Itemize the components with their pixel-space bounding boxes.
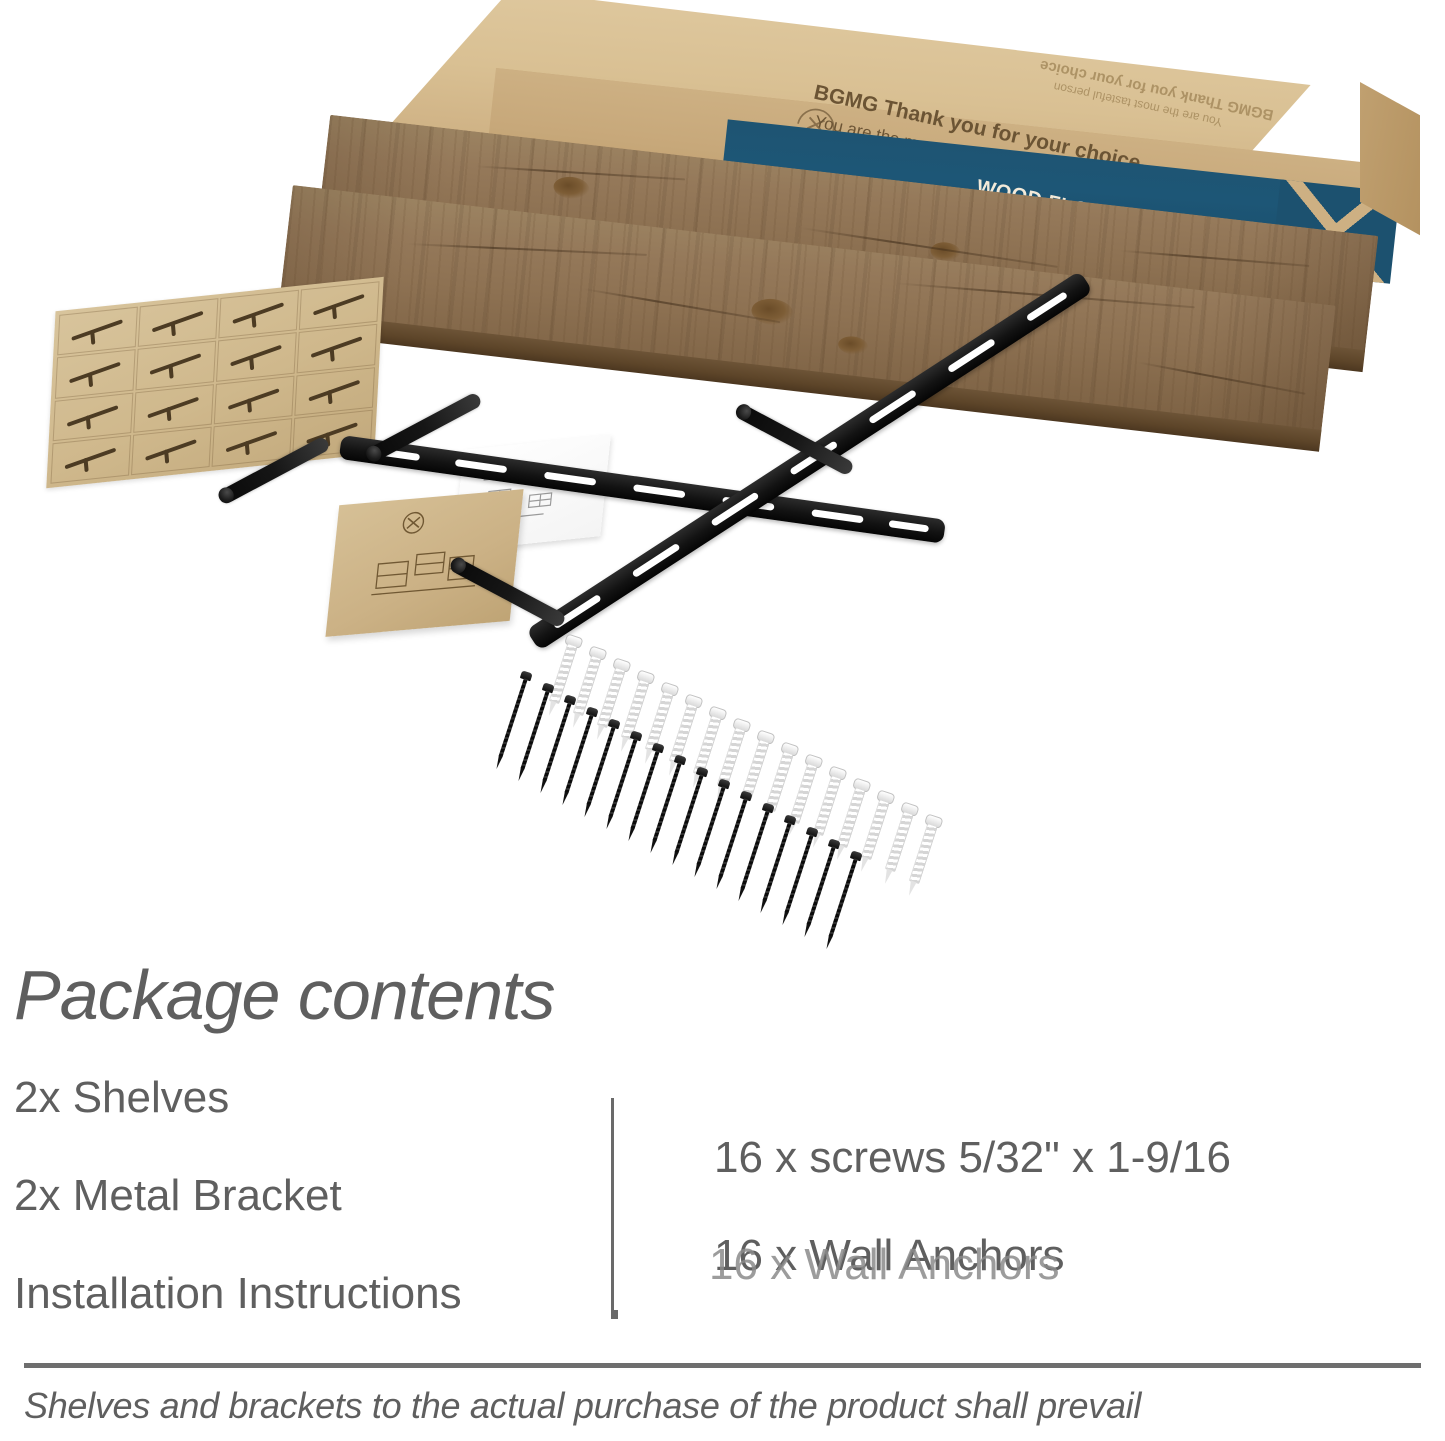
instruction-step [53, 392, 134, 441]
wood-knot [750, 297, 795, 328]
instruction-step [57, 307, 138, 356]
column-divider [611, 1098, 614, 1310]
bracket-slot [710, 492, 759, 527]
instruction-step [50, 435, 131, 484]
footer-tagline: Shelves and brackets to the actual purch… [24, 1385, 1424, 1427]
bracket-slot [632, 543, 681, 578]
contents-column-left: 2x Shelves 2x Metal Bracket Installation… [14, 1075, 594, 1370]
list-item: 16 x Wall Anchors 16 x Wall Anchors [714, 1233, 1414, 1279]
product-infographic: BGMGSHELF SERVING PEOPLE IS OUR BGMGSHEL… [0, 0, 1445, 1441]
instruction-step [131, 426, 212, 475]
wood-grain [583, 288, 781, 323]
list-item: 16 x screws 5/32" x 1-9/16 [714, 1135, 1414, 1181]
instruction-step [297, 324, 378, 373]
instruction-step [299, 281, 380, 330]
instruction-step [55, 349, 136, 398]
list-item: 2x Metal Bracket [14, 1173, 594, 1219]
product-photo: BGMGSHELF SERVING PEOPLE IS OUR BGMGSHEL… [0, 0, 1445, 950]
wood-grain [407, 243, 647, 256]
wood-knot [552, 175, 590, 201]
instruction-step [216, 332, 297, 381]
instruction-step [135, 341, 216, 390]
list-item: 2x Shelves [14, 1075, 594, 1121]
list-item: Installation Instructions [14, 1271, 594, 1317]
list-item-overlapped: 16 x Wall Anchors 16 x Wall Anchors [714, 1233, 1065, 1279]
instruction-step [218, 290, 299, 339]
instruction-step [138, 298, 219, 347]
wood-grain [1138, 362, 1305, 395]
footer-divider [24, 1363, 1421, 1368]
contents-column-right: 16 x screws 5/32" x 1-9/16 16 x Wall Anc… [714, 1135, 1414, 1331]
wood-grain [1120, 250, 1310, 267]
instruction-step [214, 375, 295, 424]
wood-knot [837, 335, 869, 356]
list-item-label-ghost: 16 x Wall Anchors [709, 1242, 1060, 1288]
page-title: Package contents [14, 960, 554, 1030]
instruction-step [133, 384, 214, 433]
